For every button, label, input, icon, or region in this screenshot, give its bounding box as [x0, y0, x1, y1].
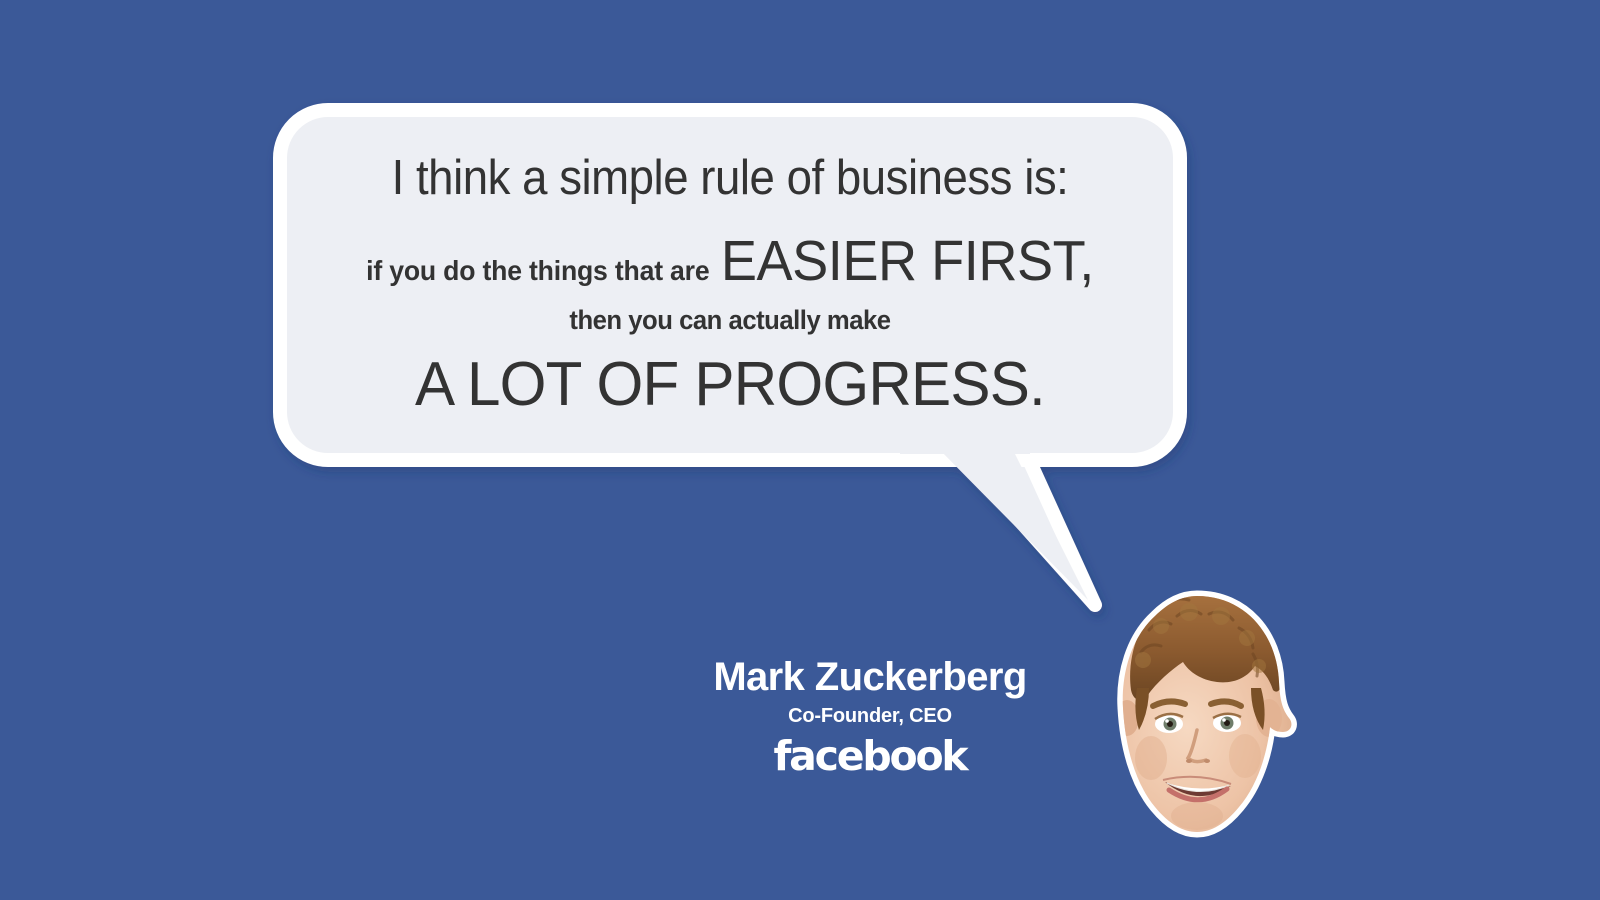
watermark-banner: wallpaper1080p.com — [1427, 874, 1600, 900]
quote-text-block: I think a simple rule of business is: if… — [285, 120, 1175, 450]
author-role: Co-Founder, CEO — [640, 705, 1100, 728]
bubble-tail-fill — [935, 445, 1088, 600]
facebook-wordmark: facebook — [640, 732, 1100, 780]
wallpaper-canvas: I think a simple rule of business is: if… — [0, 0, 1600, 900]
portrait-svg — [1097, 590, 1297, 840]
author-portrait — [1097, 590, 1297, 840]
quote-line-1: I think a simple rule of business is: — [316, 153, 1144, 204]
quote-line-2-small: if you do the things that are — [366, 256, 709, 285]
quote-line-2: if you do the things that are EASIER FIR… — [307, 232, 1153, 292]
attribution-block: Mark Zuckerberg Co-Founder, CEO facebook — [640, 655, 1100, 780]
quote-line-4-emphasis: A LOT OF PROGRESS. — [298, 352, 1161, 417]
author-name: Mark Zuckerberg — [640, 655, 1100, 699]
quote-line-2-emphasis: EASIER FIRST, — [721, 232, 1094, 292]
quote-line-3: then you can actually make — [307, 306, 1153, 334]
